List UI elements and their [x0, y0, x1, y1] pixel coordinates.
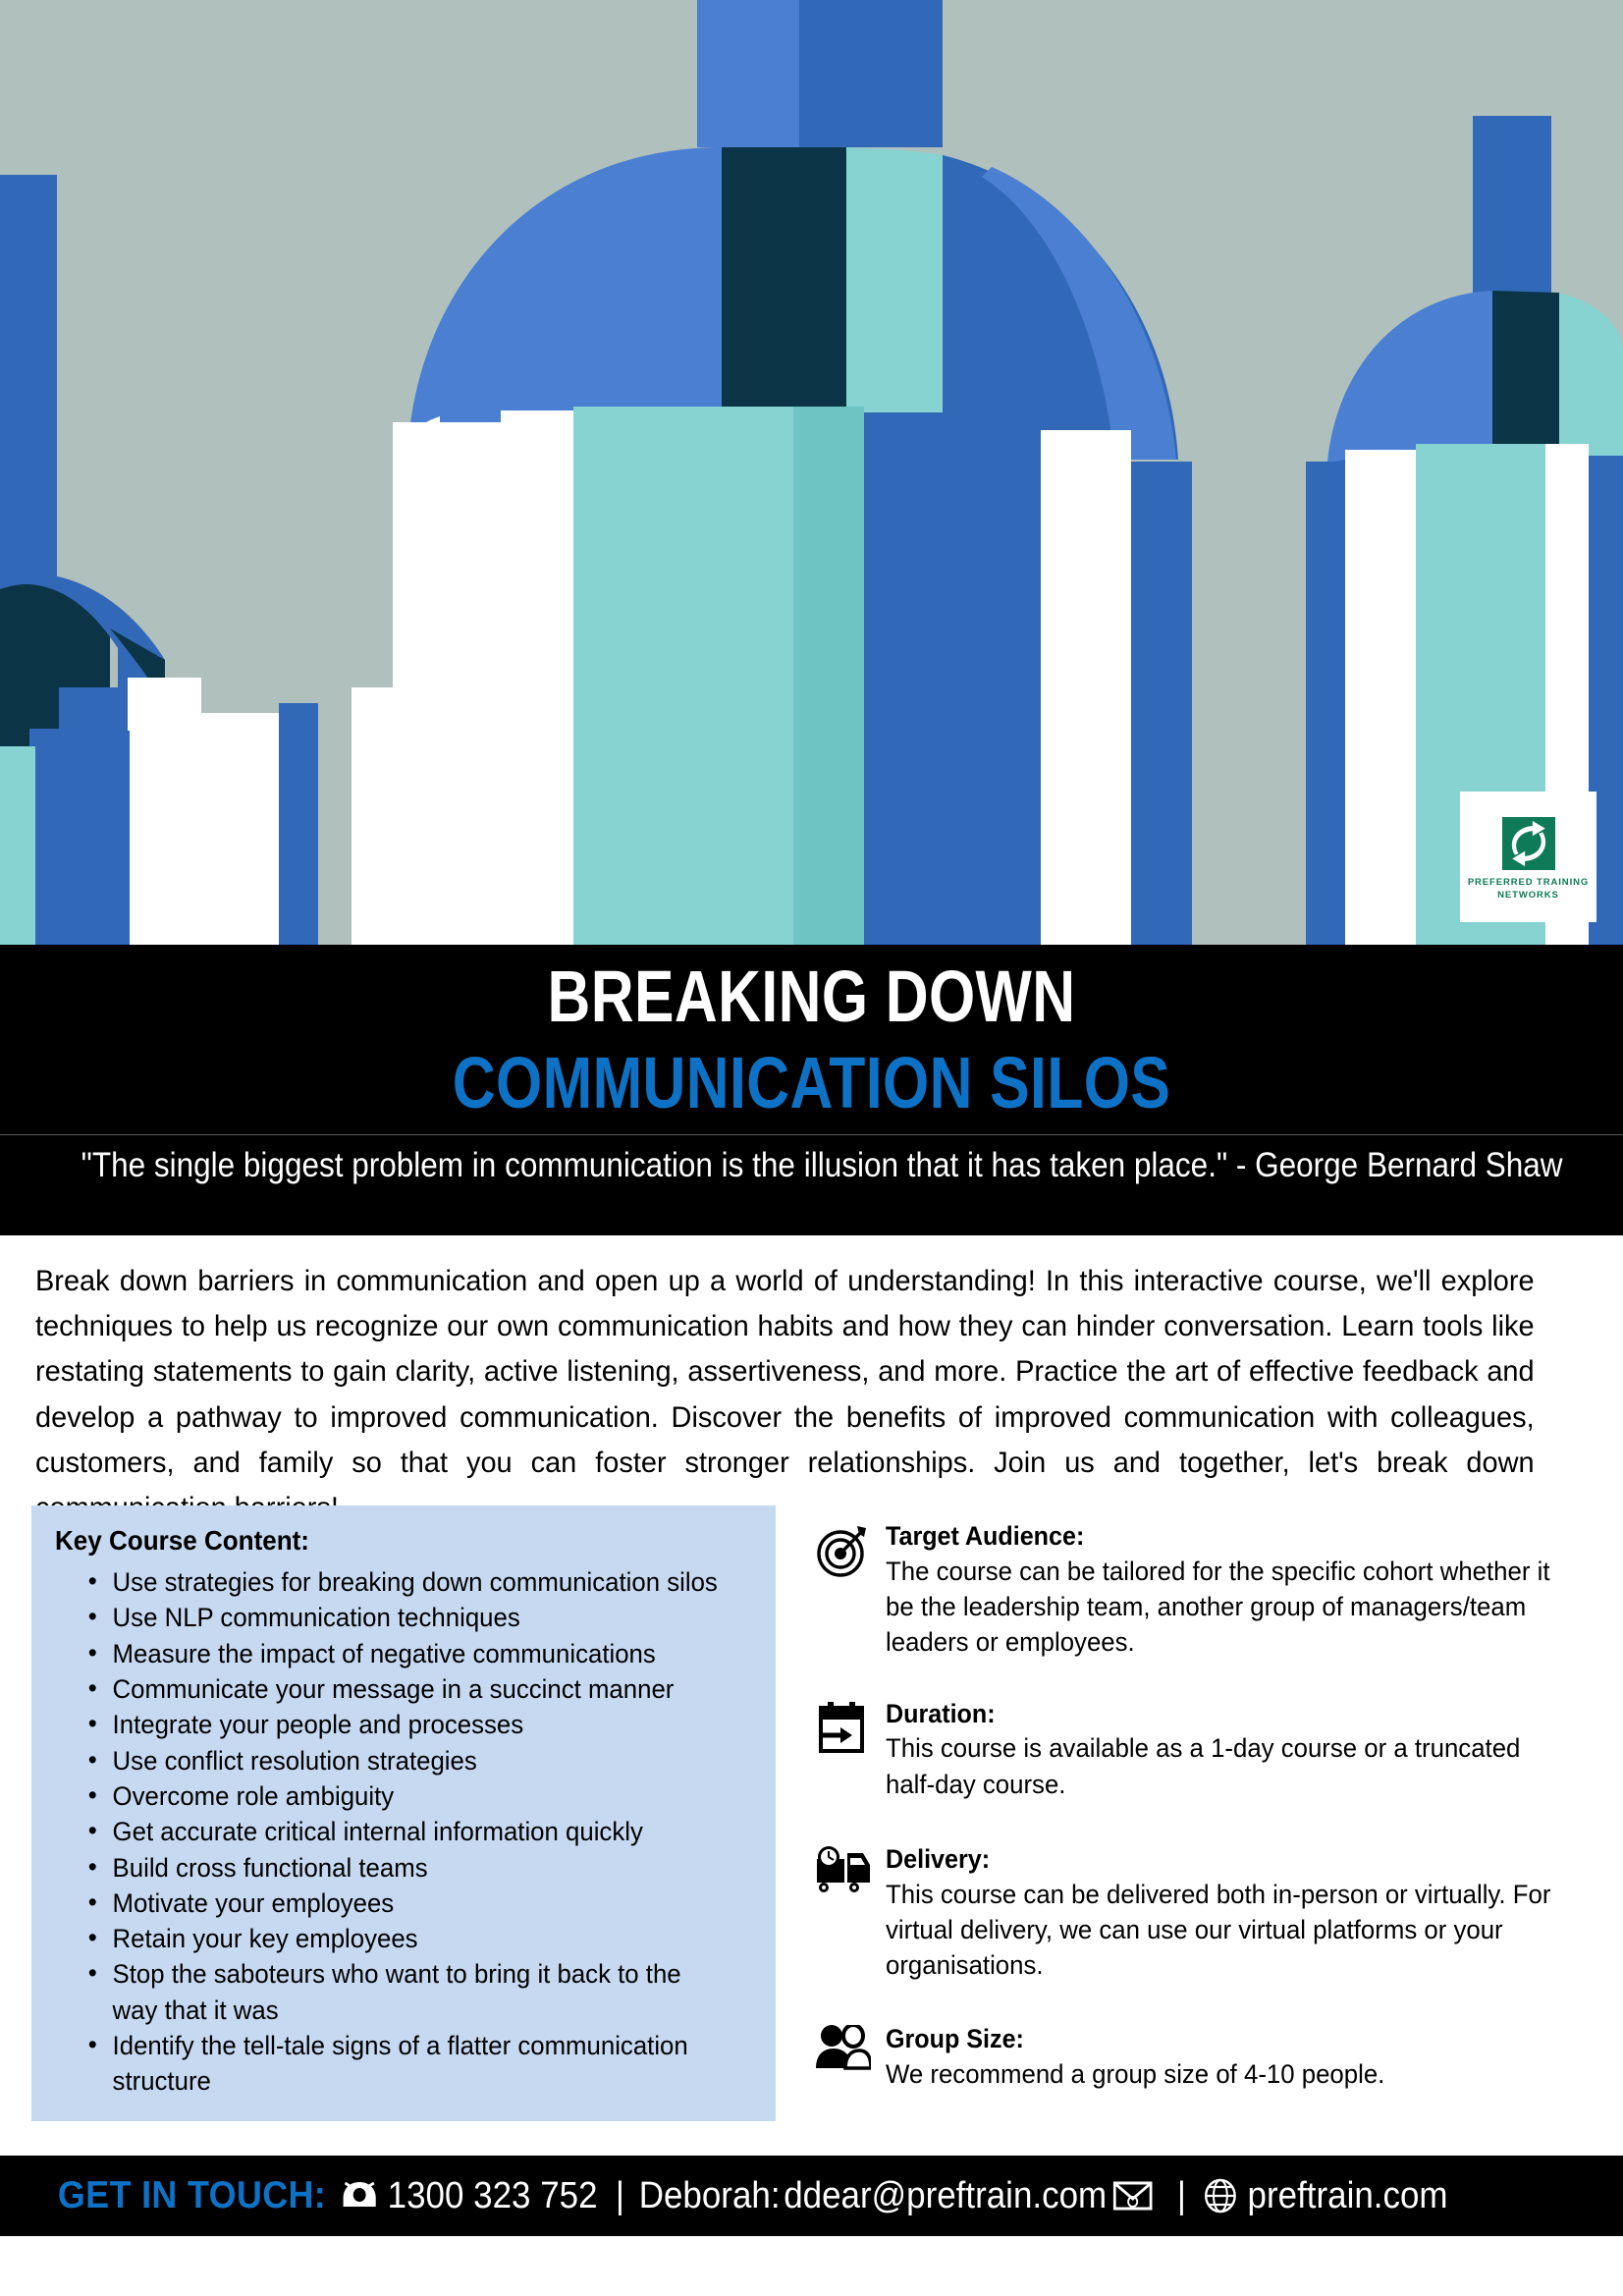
list-item: Integrate your people and processes [82, 1707, 730, 1742]
recycle-arrows-icon [1502, 817, 1555, 870]
logo-line-2: NETWORKS [1468, 890, 1589, 902]
target-icon [813, 1522, 874, 1583]
list-item: Get accurate critical internal informati… [82, 1814, 730, 1849]
list-item: Use strategies for breaking down communi… [82, 1564, 730, 1600]
contact-name: Deborah: [639, 2175, 781, 2217]
intro-paragraph: Break down barriers in communication and… [35, 1259, 1535, 1531]
info-heading: Target Audience: [886, 1520, 1542, 1554]
envelope-glyph [1113, 2180, 1153, 2212]
key-course-content-heading: Key Course Content: [55, 1525, 309, 1557]
list-item: Build cross functional teams [82, 1850, 730, 1886]
footer-separator-1: | [616, 2175, 624, 2217]
key-course-content-list: Use strategies for breaking down communi… [82, 1564, 760, 2100]
delivery-truck-glyph [815, 1845, 872, 1896]
globe-icon [1203, 2177, 1237, 2214]
globe-glyph [1203, 2177, 1237, 2214]
logo-line-1: PREFERRED TRAINING [1468, 877, 1589, 890]
list-item: Retain your key employees [82, 1921, 730, 1956]
list-item: Identify the tell-tale signs of a flatte… [82, 2028, 730, 2100]
course-info-column: Target Audience: The course can be tailo… [805, 1520, 1591, 2117]
info-body: This course is available as a 1-day cour… [886, 1730, 1559, 1802]
silos-graphic [0, 0, 1623, 945]
delivery-truck-clock-icon [813, 1845, 874, 1906]
contact-footer: GET IN TOUCH: 1300 323 752 | Deborah: dd… [0, 2156, 1623, 2236]
page-title: BREAKING DOWN [146, 955, 1477, 1038]
info-duration: Duration: This course is available as a … [805, 1698, 1591, 1802]
info-target-audience: Target Audience: The course can be tailo… [805, 1520, 1591, 1661]
quote-text: "The single biggest problem in communica… [81, 1146, 1542, 1185]
page-subtitle: COMMUNICATION SILOS [146, 1041, 1477, 1124]
info-group-size: Group Size: We recommend a group size of… [805, 2023, 1591, 2092]
footer-separator-2: | [1177, 2175, 1186, 2217]
info-body: The course can be tailored for the speci… [886, 1554, 1559, 1661]
key-course-content-panel: Key Course Content: Use strategies for b… [31, 1505, 776, 2121]
envelope-icon [1113, 2180, 1153, 2212]
people-group-icon [813, 2025, 874, 2086]
list-item: Use conflict resolution strategies [82, 1743, 730, 1778]
people-group-glyph [816, 2025, 871, 2070]
title-banner: BREAKING DOWN COMMUNICATION SILOS "The s… [0, 945, 1623, 1235]
list-item: Use NLP communication techniques [82, 1600, 730, 1635]
calendar-arrow-icon [813, 1700, 874, 1761]
telephone-glyph [342, 2179, 378, 2213]
info-body: We recommend a group size of 4-10 people… [886, 2056, 1559, 2092]
list-item: Stop the saboteurs who want to bring it … [82, 1956, 730, 2028]
list-item: Measure the impact of negative communica… [82, 1636, 730, 1671]
list-item: Communicate your message in a succinct m… [82, 1671, 730, 1707]
contact-footer-inner: GET IN TOUCH: 1300 323 752 | Deborah: dd… [0, 2174, 1451, 2217]
info-body: This course can be delivered both in-per… [886, 1877, 1559, 1984]
contact-email[interactable]: ddear@preftrain.com [784, 2175, 1107, 2217]
preferred-training-networks-logo: PREFERRED TRAINING NETWORKS [1460, 792, 1596, 922]
divider [0, 1134, 1623, 1135]
info-heading: Duration: [886, 1698, 1542, 1731]
telephone-icon [342, 2179, 378, 2213]
list-item: Motivate your employees [82, 1886, 730, 1921]
poster-page: PREFERRED TRAINING NETWORKS BREAKING DOW… [0, 0, 1623, 2296]
phone-number[interactable]: 1300 323 752 [388, 2175, 598, 2217]
info-delivery: Delivery: This course can be delivered b… [805, 1843, 1591, 1984]
hero-illustration: PREFERRED TRAINING NETWORKS [0, 0, 1623, 945]
get-in-touch-label: GET IN TOUCH: [58, 2174, 326, 2217]
info-heading: Delivery: [886, 1843, 1542, 1877]
logo-wordmark: PREFERRED TRAINING NETWORKS [1468, 877, 1589, 902]
website-url[interactable]: preftrain.com [1248, 2175, 1448, 2217]
recycle-arrows-glyph [1502, 371, 1555, 945]
list-item: Overcome role ambiguity [82, 1778, 730, 1814]
info-heading: Group Size: [886, 2023, 1542, 2056]
target-glyph [815, 1522, 872, 1579]
calendar-arrow-glyph [817, 1700, 870, 1757]
